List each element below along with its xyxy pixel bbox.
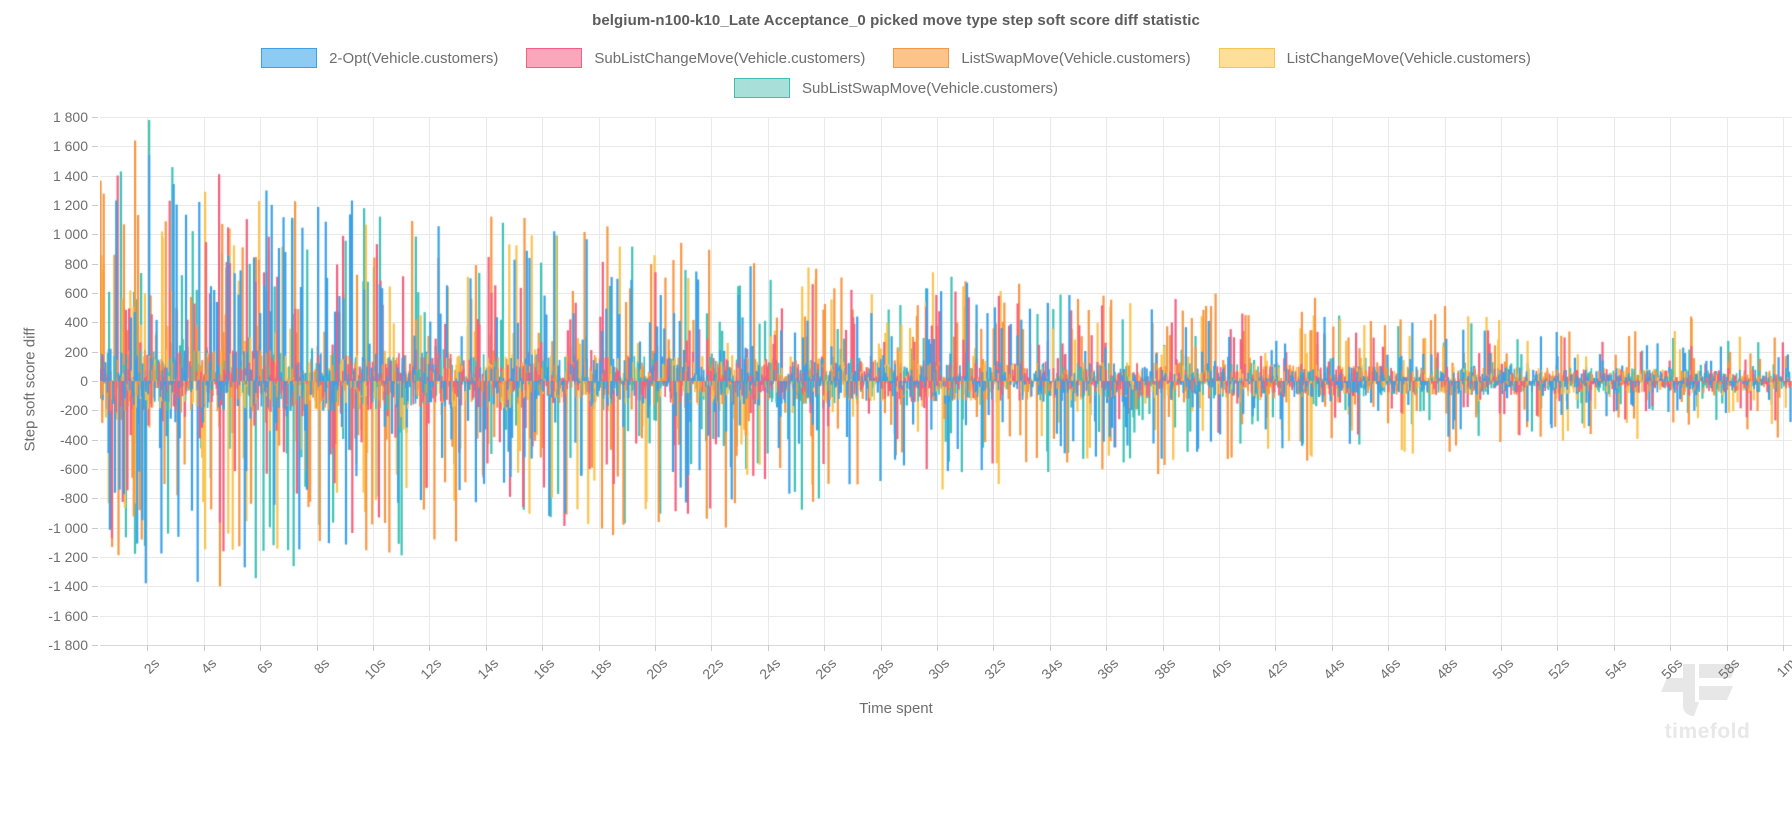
x-axis-title: Time spent <box>0 700 1792 717</box>
legend-row-1: 2-Opt(Vehicle.customers) SubListChangeMo… <box>0 48 1792 68</box>
legend-label-listchangemove: ListChangeMove(Vehicle.customers) <box>1287 50 1531 67</box>
x-tick-mark <box>937 645 938 651</box>
x-tick-mark <box>1106 645 1107 651</box>
y-tick-mark <box>92 440 98 441</box>
x-tick-mark <box>1557 645 1558 651</box>
x-tick-mark <box>1050 645 1051 651</box>
y-tick-mark <box>92 557 98 558</box>
y-tick-label: 600 <box>0 285 88 301</box>
y-tick-label: 1 200 <box>0 197 88 213</box>
y-tick-mark <box>92 410 98 411</box>
page-title: belgium-n100-k10_Late Acceptance_0 picke… <box>0 12 1792 29</box>
y-tick-label: -800 <box>0 490 88 506</box>
x-tick-mark <box>1783 645 1784 651</box>
x-tick-mark <box>1614 645 1615 651</box>
x-tick-mark <box>1163 645 1164 651</box>
y-tick-label: 1 600 <box>0 138 88 154</box>
y-tick-label: 800 <box>0 256 88 272</box>
y-tick-label: 200 <box>0 344 88 360</box>
x-tick-mark <box>147 645 148 651</box>
y-tick-mark <box>92 469 98 470</box>
y-tick-label: -1 000 <box>0 520 88 536</box>
y-tick-label: -1 800 <box>0 637 88 653</box>
y-tick-label: -1 600 <box>0 608 88 624</box>
x-tick-label: 58s <box>1715 655 1742 682</box>
legend-swatch-2-opt <box>261 48 317 68</box>
y-tick-label: 1 400 <box>0 168 88 184</box>
x-tick-label: 28s <box>869 655 896 682</box>
x-tick-label: 42s <box>1263 655 1290 682</box>
y-tick-mark <box>92 528 98 529</box>
x-tick-mark <box>881 645 882 651</box>
x-tick-mark <box>429 645 430 651</box>
x-tick-label: 22s <box>699 655 726 682</box>
y-tick-mark <box>92 352 98 353</box>
x-tick-mark <box>1445 645 1446 651</box>
x-tick-label: 52s <box>1545 655 1572 682</box>
y-axis-title: Step soft score diff <box>22 130 39 650</box>
legend-label-sublistchangemove: SubListChangeMove(Vehicle.customers) <box>594 50 865 67</box>
x-tick-mark <box>599 645 600 651</box>
y-tick-label: -1 400 <box>0 578 88 594</box>
y-tick-mark <box>92 176 98 177</box>
x-tick-label: 12s <box>417 655 444 682</box>
y-tick-mark <box>92 264 98 265</box>
x-tick-label: 14s <box>474 655 501 682</box>
x-tick-label: 10s <box>361 655 388 682</box>
x-tick-mark <box>542 645 543 651</box>
legend-label-sublistswapmove: SubListSwapMove(Vehicle.customers) <box>802 80 1058 97</box>
x-tick-label: 32s <box>981 655 1008 682</box>
x-tick-mark <box>373 645 374 651</box>
x-tick-mark <box>317 645 318 651</box>
x-tick-label: 4s <box>197 655 219 677</box>
x-tick-label: 48s <box>1433 655 1460 682</box>
x-tick-mark <box>260 645 261 651</box>
x-axis: 2s4s6s8s10s12s14s16s18s20s22s24s26s28s30… <box>100 645 1792 735</box>
x-tick-label: 38s <box>1151 655 1178 682</box>
x-tick-label: 36s <box>1094 655 1121 682</box>
x-tick-mark <box>1501 645 1502 651</box>
x-tick-mark <box>1727 645 1728 651</box>
y-tick-mark <box>92 381 98 382</box>
x-tick-label: 56s <box>1658 655 1685 682</box>
y-tick-mark <box>92 117 98 118</box>
x-tick-mark <box>655 645 656 651</box>
y-tick-label: 0 <box>0 373 88 389</box>
y-tick-mark <box>92 322 98 323</box>
plot-area: timefold <box>100 117 1792 645</box>
y-tick-label: -1 200 <box>0 549 88 565</box>
legend-item-2-opt[interactable]: 2-Opt(Vehicle.customers) <box>261 48 498 68</box>
legend-row-2: SubListSwapMove(Vehicle.customers) <box>0 78 1792 98</box>
series-bars-canvas <box>100 117 1792 645</box>
chart-legend: 2-Opt(Vehicle.customers) SubListChangeMo… <box>0 48 1792 98</box>
x-tick-label: 18s <box>587 655 614 682</box>
y-tick-mark <box>92 586 98 587</box>
legend-item-sublistchangemove[interactable]: SubListChangeMove(Vehicle.customers) <box>526 48 865 68</box>
y-tick-label: 1 800 <box>0 109 88 125</box>
x-tick-mark <box>824 645 825 651</box>
y-tick-label: 1 000 <box>0 226 88 242</box>
y-tick-label: -600 <box>0 461 88 477</box>
x-tick-label: 46s <box>1376 655 1403 682</box>
legend-swatch-sublistswapmove <box>734 78 790 98</box>
legend-item-listchangemove[interactable]: ListChangeMove(Vehicle.customers) <box>1219 48 1531 68</box>
x-tick-label: 34s <box>1038 655 1065 682</box>
legend-item-listswapmove[interactable]: ListSwapMove(Vehicle.customers) <box>893 48 1190 68</box>
x-tick-mark <box>1219 645 1220 651</box>
x-tick-label: 16s <box>530 655 557 682</box>
legend-swatch-listchangemove <box>1219 48 1275 68</box>
y-tick-mark <box>92 146 98 147</box>
y-tick-mark <box>92 293 98 294</box>
x-tick-label: 2s <box>141 655 163 677</box>
x-tick-label: 50s <box>1489 655 1516 682</box>
x-tick-mark <box>1275 645 1276 651</box>
x-tick-label: 30s <box>925 655 952 682</box>
x-tick-mark <box>1388 645 1389 651</box>
legend-label-2-opt: 2-Opt(Vehicle.customers) <box>329 50 498 67</box>
y-tick-mark <box>92 498 98 499</box>
y-tick-label: 400 <box>0 314 88 330</box>
x-tick-label: 40s <box>1207 655 1234 682</box>
y-tick-mark <box>92 234 98 235</box>
x-tick-label: 24s <box>756 655 783 682</box>
x-tick-label: 44s <box>1320 655 1347 682</box>
x-tick-mark <box>1670 645 1671 651</box>
x-tick-label: 8s <box>310 655 332 677</box>
x-tick-label: 20s <box>643 655 670 682</box>
x-tick-mark <box>993 645 994 651</box>
y-tick-mark <box>92 205 98 206</box>
legend-swatch-sublistchangemove <box>526 48 582 68</box>
x-tick-label: 26s <box>812 655 839 682</box>
y-tick-label: -400 <box>0 432 88 448</box>
x-tick-label: 1m <box>1773 655 1792 680</box>
x-tick-label: 54s <box>1602 655 1629 682</box>
y-tick-mark <box>92 616 98 617</box>
x-tick-label: 6s <box>254 655 276 677</box>
y-tick-label: -200 <box>0 402 88 418</box>
x-tick-mark <box>768 645 769 651</box>
legend-swatch-listswapmove <box>893 48 949 68</box>
legend-label-listswapmove: ListSwapMove(Vehicle.customers) <box>961 50 1190 67</box>
legend-item-sublistswapmove[interactable]: SubListSwapMove(Vehicle.customers) <box>734 78 1058 98</box>
x-tick-mark <box>204 645 205 651</box>
x-tick-mark <box>711 645 712 651</box>
y-tick-mark <box>92 645 98 646</box>
x-tick-mark <box>486 645 487 651</box>
x-tick-mark <box>1332 645 1333 651</box>
